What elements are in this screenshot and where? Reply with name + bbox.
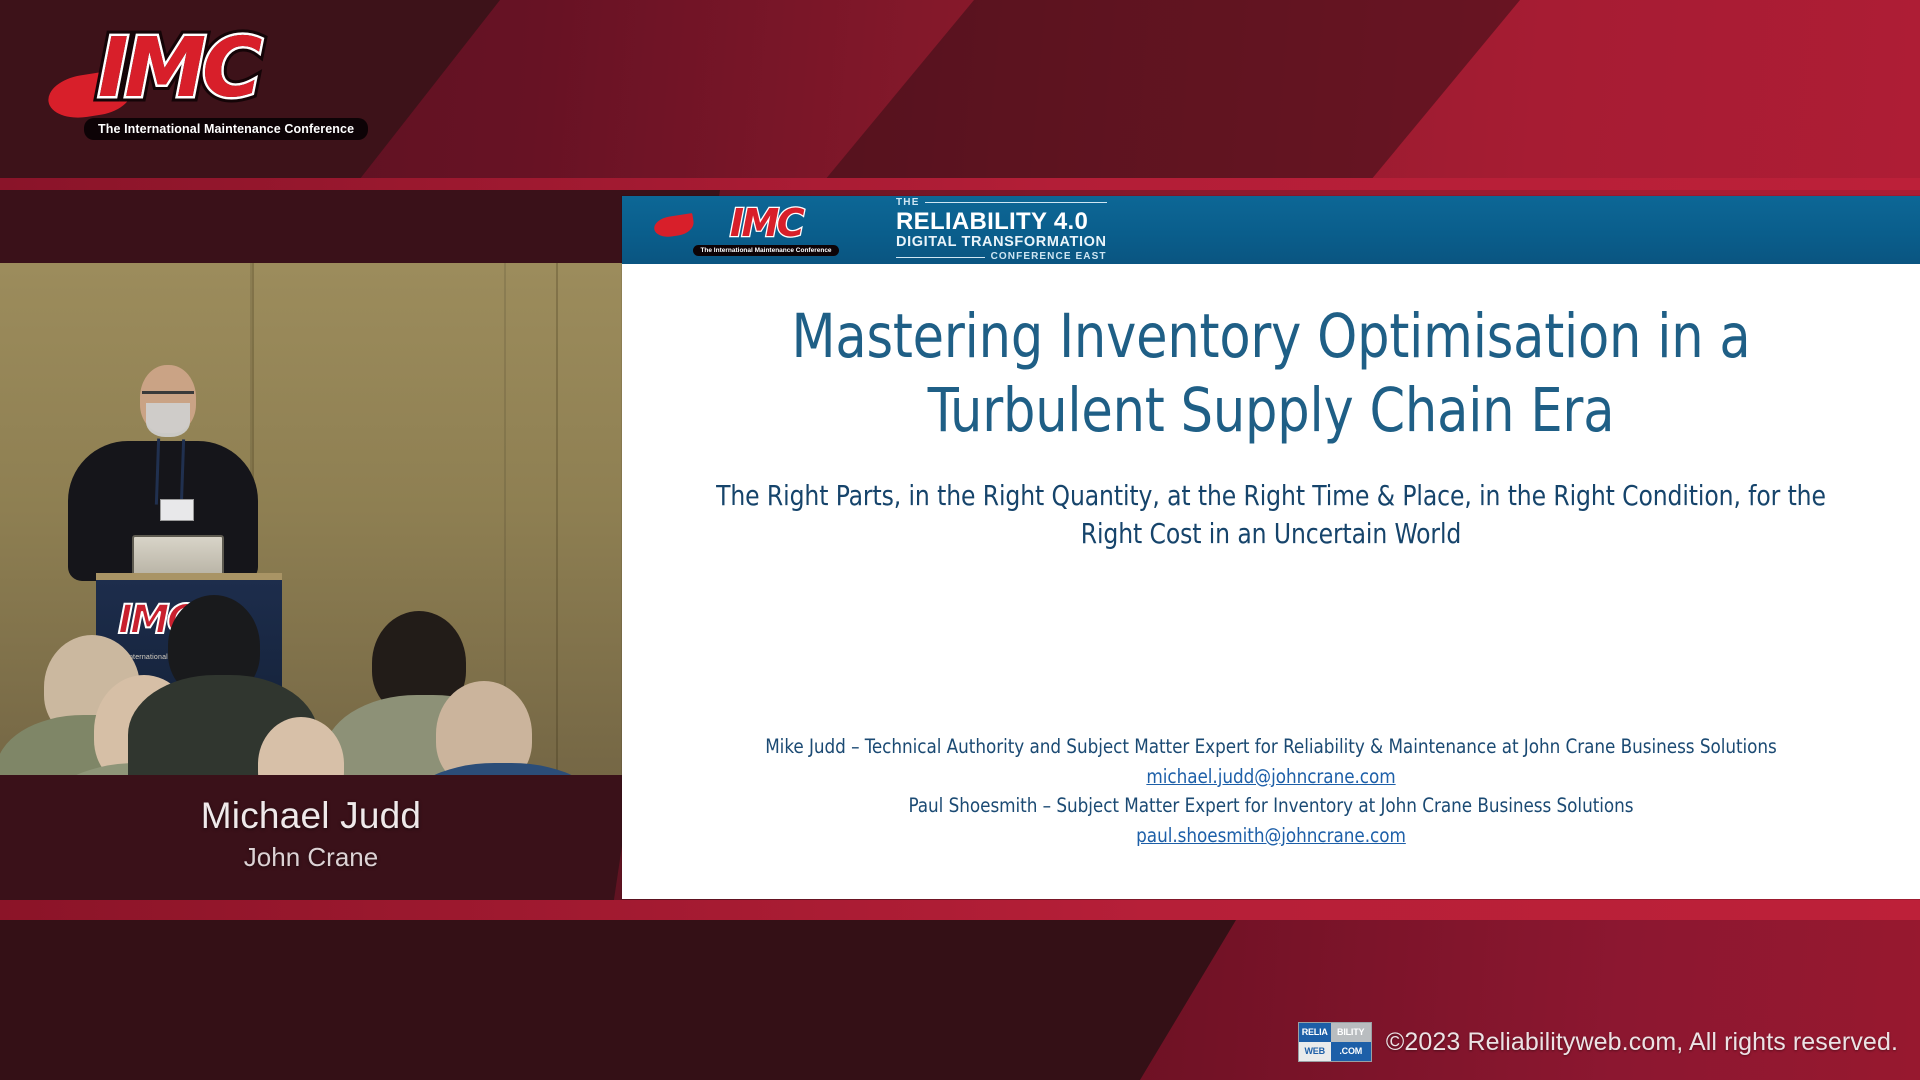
event-the-label: THE bbox=[896, 198, 1107, 208]
presenter-line: Paul Shoesmith – Subject Matter Expert f… bbox=[648, 791, 1894, 821]
imc-swoosh-icon bbox=[653, 213, 696, 239]
speaker-video-panel[interactable]: IMC The International Maintenance Confer… bbox=[0, 263, 622, 775]
presenter-email-link[interactable]: michael.judd@johncrane.com bbox=[648, 762, 1894, 792]
logo-cell-com: .COM bbox=[1331, 1042, 1371, 1061]
event-subtitle: DIGITAL TRANSFORMATION bbox=[896, 235, 1107, 250]
background-bottom-stripe bbox=[0, 900, 1920, 922]
presentation-slide[interactable]: IMC The International Maintenance Confer… bbox=[622, 196, 1920, 899]
speaker-nameplate: Michael Judd John Crane bbox=[0, 775, 622, 901]
slide-presenter-block: Mike Judd – Technical Authority and Subj… bbox=[648, 732, 1894, 851]
speaker-name: Michael Judd bbox=[0, 795, 622, 837]
background-bottom-diagonal-dark bbox=[0, 920, 1300, 1080]
slide-subtitle: The Right Parts, in the Right Quantity, … bbox=[710, 477, 1833, 554]
presentation-stage: IMC IMC The International Maintenance Co… bbox=[0, 0, 1920, 1080]
event-name: RELIABILITY 4.0 bbox=[896, 210, 1107, 234]
presenter-badge bbox=[160, 499, 194, 521]
background-top-stripe bbox=[0, 178, 1920, 190]
wall-seam bbox=[556, 263, 558, 775]
event-region: CONFERENCE EAST bbox=[896, 252, 1107, 262]
reliabilityweb-logo: RELIA BILITY WEB .COM bbox=[1298, 1022, 1372, 1062]
presenter-lanyard bbox=[155, 439, 185, 506]
presenter-beard bbox=[146, 403, 190, 437]
imc-logo: IMC IMC The International Maintenance Co… bbox=[50, 22, 380, 142]
slide-title: Mastering Inventory Optimisation in a Tu… bbox=[721, 300, 1820, 449]
logo-cell-relia: RELIA bbox=[1299, 1023, 1331, 1042]
copyright-text: ©2023 Reliabilityweb.com, All rights res… bbox=[1386, 1028, 1898, 1057]
presenter-laptop bbox=[132, 535, 224, 577]
slide-header-bar: IMC The International Maintenance Confer… bbox=[622, 196, 1920, 264]
presenter-glasses bbox=[142, 391, 194, 398]
logo-row-bottom: WEB .COM bbox=[1299, 1042, 1371, 1061]
slide-imc-wordmark: IMC bbox=[730, 204, 802, 242]
slide-content: Mastering Inventory Optimisation in a Tu… bbox=[622, 300, 1920, 899]
footer-credit: RELIA BILITY WEB .COM ©2023 Reliabilityw… bbox=[1298, 1022, 1898, 1062]
slide-imc-logo: IMC The International Maintenance Confer… bbox=[622, 196, 892, 264]
event-branding: THE RELIABILITY 4.0 DIGITAL TRANSFORMATI… bbox=[892, 198, 1107, 263]
presenter-line: Mike Judd – Technical Authority and Subj… bbox=[648, 732, 1894, 762]
logo-row-top: RELIA BILITY bbox=[1299, 1023, 1371, 1042]
imc-tagline: The International Maintenance Conference bbox=[84, 118, 368, 140]
speaker-organization: John Crane bbox=[0, 842, 622, 873]
slide-imc-tagline: The International Maintenance Conference bbox=[693, 245, 838, 256]
logo-cell-bility: BILITY bbox=[1331, 1023, 1371, 1042]
imc-wordmark: IMC bbox=[98, 28, 258, 110]
presenter-email-link[interactable]: paul.shoesmith@johncrane.com bbox=[648, 821, 1894, 851]
logo-cell-web: WEB bbox=[1299, 1042, 1331, 1061]
